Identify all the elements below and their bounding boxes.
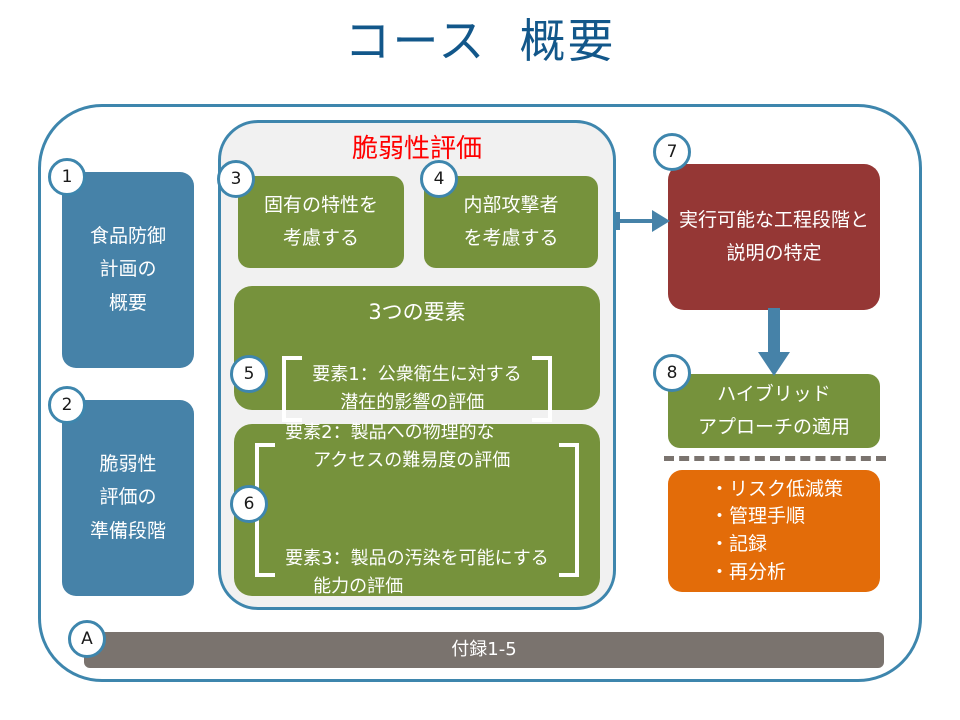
- arrow-right-icon: [616, 206, 672, 236]
- step-4-label: 内部攻撃者 を考慮する: [463, 189, 558, 256]
- step-2-label: 脆弱性 評価の 準備段階: [90, 448, 166, 548]
- step-7-badge: 7: [653, 133, 691, 171]
- dashed-separator: [664, 456, 886, 461]
- step-1-badge: 1: [48, 158, 86, 196]
- appendix-bar[interactable]: 付録1-5: [84, 632, 884, 668]
- arrow-down-icon: [757, 308, 791, 378]
- step-6-badge: 6: [230, 485, 268, 523]
- step-3-label: 固有の特性を 考慮する: [264, 189, 378, 256]
- element-1-line-1: 要素1：公衆衛生に対する: [312, 364, 521, 385]
- element-3-line-1: 要素3：製品の汚染を可能にする: [285, 548, 549, 569]
- step-3-badge: 3: [217, 160, 255, 198]
- appendix-badge: A: [68, 620, 106, 658]
- bracket-right-icon: [559, 443, 579, 577]
- element-2-3-bracket-row: 要素2：製品への物理的な アクセスの難易度の評価 要素3：製品の汚染を可能にする…: [234, 391, 600, 628]
- step-2-box[interactable]: 脆弱性 評価の 準備段階: [62, 400, 194, 596]
- step-8-label: ハイブリッド アプローチの適用: [698, 378, 850, 445]
- step-8-box[interactable]: ハイブリッド アプローチの適用: [668, 374, 880, 448]
- element-2-line-1: 要素2：製品への物理的な: [285, 422, 494, 443]
- three-elements-title: 3つの要素: [368, 294, 465, 331]
- step-2-badge: 2: [48, 386, 86, 424]
- step-3-box[interactable]: 固有の特性を 考慮する: [238, 176, 404, 268]
- element-2-line-2: アクセスの難易度の評価: [285, 447, 549, 475]
- element-2-3-text: 要素2：製品への物理的な アクセスの難易度の評価 要素3：製品の汚染を可能にする…: [285, 391, 549, 628]
- element-3-line-2: 能力の評価: [285, 573, 549, 601]
- step-5-badge: 5: [230, 355, 268, 393]
- diagram-canvas: コース 概要 脆弱性評価 食品防御 計画の 概要 1 脆弱性 評価の 準備段階 …: [0, 0, 960, 720]
- vulnerability-assessment-heading: 脆弱性評価: [218, 128, 616, 165]
- step-4-badge: 4: [420, 160, 458, 198]
- step-6-box[interactable]: 要素2：製品への物理的な アクセスの難易度の評価 要素3：製品の汚染を可能にする…: [234, 424, 600, 596]
- step-7-label: 実行可能な工程段階と 説明の特定: [679, 204, 869, 271]
- text-gap: [285, 503, 549, 517]
- page-title: コース 概要: [0, 14, 960, 69]
- appendix-label: 付録1-5: [451, 634, 516, 666]
- outcomes-list: ・リスク低減策 ・管理手順 ・記録 ・再分析: [710, 476, 843, 586]
- step-8-badge: 8: [653, 354, 691, 392]
- step-1-label: 食品防御 計画の 概要: [90, 220, 166, 320]
- step-1-box[interactable]: 食品防御 計画の 概要: [62, 172, 194, 368]
- outcomes-box[interactable]: ・リスク低減策 ・管理手順 ・記録 ・再分析: [668, 470, 880, 592]
- step-7-box[interactable]: 実行可能な工程段階と 説明の特定: [668, 164, 880, 310]
